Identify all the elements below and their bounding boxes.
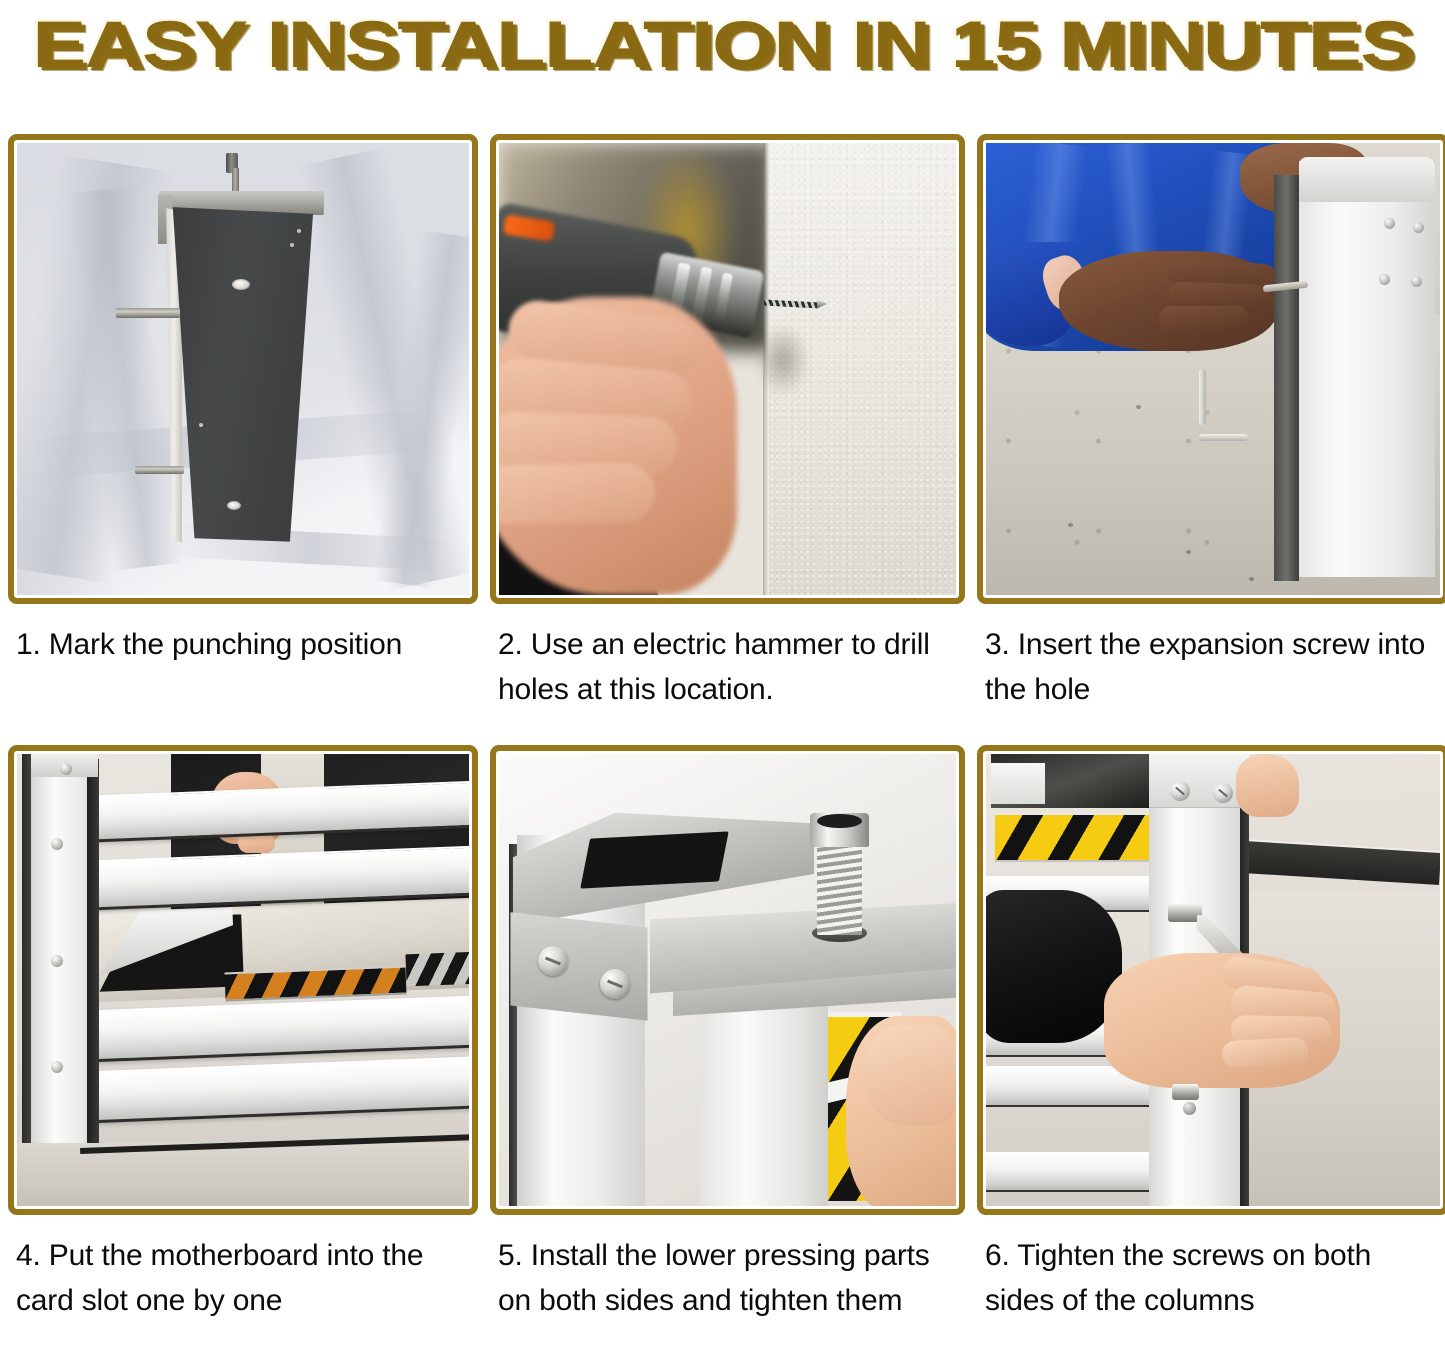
alignment-pin-upper (116, 308, 179, 318)
step-caption-4: 4. Put the motherboard into the card slo… (8, 1215, 478, 1352)
step-image-frame-5 (490, 745, 965, 1215)
finger (1159, 306, 1250, 331)
column-dark-edge (1274, 175, 1299, 582)
step-card-3: 3. Insert the expansion screw into the h… (977, 134, 1445, 745)
bracket-screw (600, 969, 630, 999)
page-title: EASY INSTALLATION IN 15 MINUTES (32, 11, 1412, 77)
bracket-front-face (510, 912, 647, 1020)
step-caption-6: 6. Tighten the screws on both sides of t… (977, 1215, 1445, 1352)
column-bolt-upper (1168, 903, 1202, 922)
step-image-frame-3 (977, 134, 1445, 604)
step-photo-2 (499, 143, 956, 595)
title-banner: EASY INSTALLATION IN 15 MINUTES (0, 0, 1445, 88)
black-sleeve (986, 890, 1122, 1044)
hazard-stripe-band (995, 813, 1149, 863)
finger (1221, 1037, 1309, 1069)
bracket-slot-hole (580, 832, 728, 889)
column-bolt-lower (1172, 1084, 1199, 1100)
step-photo-4 (17, 754, 469, 1206)
barrier-board (986, 1152, 1159, 1193)
step-card-1: 1. Mark the punching position (8, 134, 478, 745)
column-right-edge (87, 759, 99, 1143)
step-card-2: 2. Use an electric hammer to drill holes… (490, 134, 965, 745)
step-photo-3 (986, 143, 1440, 595)
step-card-6: 6. Tighten the screws on both sides of t… (977, 745, 1445, 1352)
column-top-plate (1299, 157, 1435, 202)
marking-hole-upper (232, 279, 250, 290)
allen-key-icon (1199, 369, 1267, 441)
step-image-frame-1 (8, 134, 478, 604)
step-image-frame-4 (8, 745, 478, 1215)
step-photo-5 (499, 754, 956, 1206)
step-card-5: 5. Install the lower pressing parts on b… (490, 745, 965, 1352)
column-screw (1170, 781, 1190, 801)
step-image-frame-6 (977, 745, 1445, 1215)
upper-white-block (991, 763, 1045, 804)
finger (499, 462, 655, 524)
floor-speck (1136, 405, 1141, 409)
bracket-screw (538, 946, 568, 976)
step-caption-1: 1. Mark the punching position (8, 604, 478, 745)
drill-dust (755, 324, 810, 396)
hex-socket-hole (817, 814, 863, 828)
finger (865, 1025, 956, 1124)
thumb (1236, 754, 1300, 817)
column-screw (60, 763, 72, 775)
column-top-plate (1149, 754, 1249, 808)
floor-speck (1186, 550, 1191, 554)
bolt-thread (817, 844, 863, 934)
column-screw (51, 955, 63, 967)
column-screw (1384, 218, 1395, 229)
floor-speck (1068, 523, 1073, 527)
steps-grid: 1. Mark the punching position (8, 134, 1437, 1352)
step-image-frame-2 (490, 134, 965, 604)
column-screw (51, 838, 63, 850)
step-card-4: 4. Put the motherboard into the card slo… (8, 745, 478, 1352)
step-caption-3: 3. Insert the expansion screw into the h… (977, 604, 1445, 745)
installation-guide-page: EASY INSTALLATION IN 15 MINUTES (0, 0, 1445, 1352)
step-photo-6 (986, 754, 1440, 1206)
step-caption-2: 2. Use an electric hammer to drill holes… (490, 604, 965, 745)
step-photo-1 (17, 143, 469, 595)
surface-speck (199, 423, 203, 427)
step-caption-5: 5. Install the lower pressing parts on b… (490, 1215, 965, 1352)
alignment-pin-lower (135, 466, 185, 474)
hazard-stripe-far (405, 951, 469, 985)
